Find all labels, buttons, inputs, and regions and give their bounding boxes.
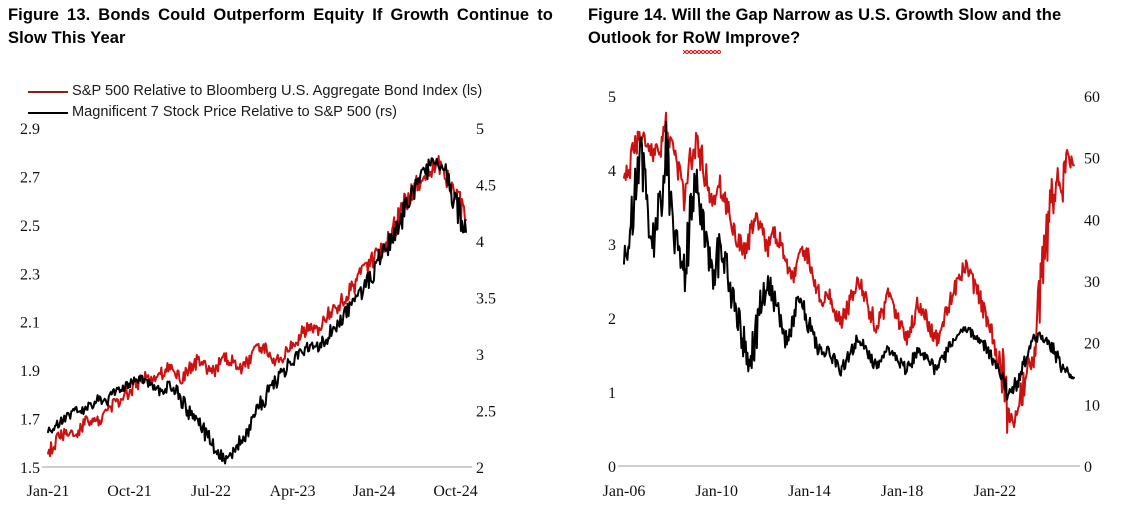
y-axis-tick-label-left: 2.5 (20, 218, 40, 235)
figure-14-panel: Figure 14. Will the Gap Narrow as U.S. G… (566, 0, 1132, 521)
y-axis-tick-label-left: 2.3 (20, 266, 40, 283)
x-axis-tick-label: Oct-24 (433, 483, 477, 500)
figure-13-plot: 2.92.72.52.32.11.91.71.554.543.532.52Jan… (0, 0, 566, 521)
series-line-black (48, 158, 466, 463)
y-axis-tick-label-right: 20 (1084, 336, 1100, 353)
y-axis-tick-label-left: 2.7 (20, 169, 40, 186)
x-axis-tick-label: Jan-22 (973, 483, 1016, 500)
y-axis-tick-label-right: 2 (476, 460, 484, 477)
y-axis-tick-label-left: 1.9 (20, 363, 40, 380)
x-axis-tick-label: Jan-14 (788, 483, 831, 500)
x-axis-tick-label: Jan-06 (603, 483, 646, 500)
figure-13-panel: Figure 13. Bonds Could Outperform Equity… (0, 0, 566, 521)
x-axis-tick-label: Jan-18 (881, 483, 924, 500)
y-axis-tick-label-left: 3 (608, 237, 616, 254)
y-axis-tick-label-right: 3.5 (476, 291, 496, 308)
y-axis-tick-label-left: 2.1 (20, 315, 40, 332)
y-axis-tick-label-right: 0 (1084, 459, 1092, 476)
y-axis-tick-label-left: 2.9 (20, 121, 40, 138)
x-axis-tick-label: Apr-23 (270, 483, 316, 500)
y-axis-tick-label-right: 60 (1084, 89, 1100, 106)
y-axis-tick-label-left: 1 (608, 385, 616, 402)
y-axis-tick-label-left: 4 (608, 163, 616, 180)
x-axis-tick-label: Oct-21 (107, 483, 151, 500)
y-axis-tick-label-right: 2.5 (476, 404, 496, 421)
y-axis-tick-label-right: 40 (1084, 212, 1100, 229)
x-axis-tick-label: Jan-21 (27, 483, 70, 500)
y-axis-tick-label-left: 0 (608, 459, 616, 476)
y-axis-tick-label-left: 2 (608, 311, 616, 328)
series-line-red (48, 156, 466, 456)
x-axis-tick-label: Jan-10 (695, 483, 738, 500)
y-axis-tick-label-left: 5 (608, 89, 616, 106)
y-axis-tick-label-right: 10 (1084, 397, 1100, 414)
figure-14-plot: 5432106050403020100Jan-06Jan-10Jan-14Jan… (566, 0, 1132, 521)
y-axis-tick-label-right: 5 (476, 121, 484, 138)
x-axis-tick-label: Jan-24 (353, 483, 396, 500)
y-axis-tick-label-right: 30 (1084, 274, 1100, 291)
x-axis-tick-label: Jul-22 (191, 483, 231, 500)
y-axis-tick-label-left: 1.5 (20, 460, 40, 477)
y-axis-tick-label-right: 4.5 (476, 178, 496, 195)
y-axis-tick-label-right: 50 (1084, 151, 1100, 168)
y-axis-tick-label-right: 3 (476, 347, 484, 364)
y-axis-tick-label-right: 4 (476, 234, 484, 251)
y-axis-tick-label-left: 1.7 (20, 412, 40, 429)
